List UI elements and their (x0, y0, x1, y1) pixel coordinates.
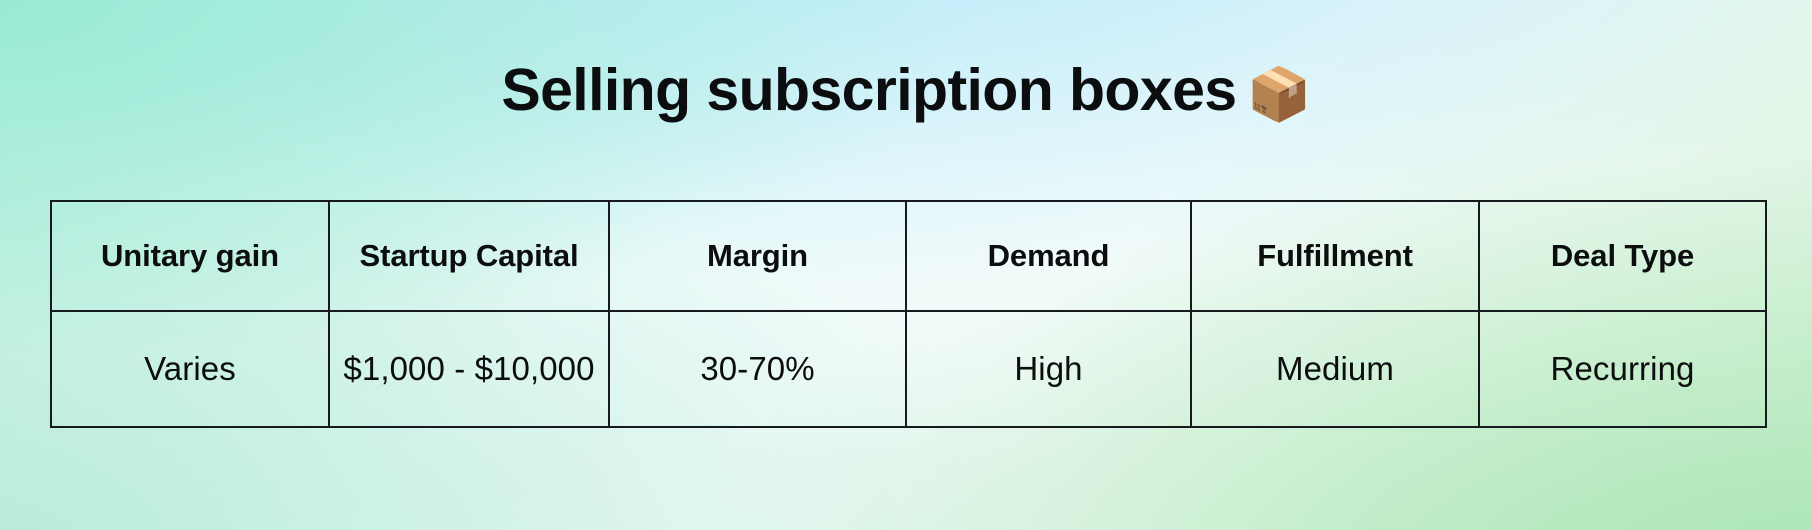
table-row: Varies $1,000 - $10,000 30-70% High Medi… (51, 311, 1766, 427)
cell-deal-type: Recurring (1479, 311, 1766, 427)
column-header-demand: Demand (906, 201, 1191, 311)
cell-startup-capital: $1,000 - $10,000 (329, 311, 609, 427)
table-header: Unitary gain Startup Capital Margin Dema… (51, 201, 1766, 311)
package-box-emoji: 📦 (1247, 66, 1311, 124)
page-title: Selling subscription boxes📦 (0, 58, 1812, 124)
cell-demand: High (906, 311, 1191, 427)
comparison-table: Unitary gain Startup Capital Margin Dema… (50, 200, 1767, 428)
column-header-deal-type: Deal Type (1479, 201, 1766, 311)
cell-fulfillment: Medium (1191, 311, 1479, 427)
column-header-fulfillment: Fulfillment (1191, 201, 1479, 311)
table-body: Varies $1,000 - $10,000 30-70% High Medi… (51, 311, 1766, 427)
cell-margin: 30-70% (609, 311, 906, 427)
cell-unitary-gain: Varies (51, 311, 329, 427)
column-header-startup-capital: Startup Capital (329, 201, 609, 311)
page-canvas: Selling subscription boxes📦 Unitary gain… (0, 0, 1812, 530)
table-header-row: Unitary gain Startup Capital Margin Dema… (51, 201, 1766, 311)
column-header-unitary-gain: Unitary gain (51, 201, 329, 311)
page-title-text: Selling subscription boxes (501, 57, 1236, 123)
column-header-margin: Margin (609, 201, 906, 311)
